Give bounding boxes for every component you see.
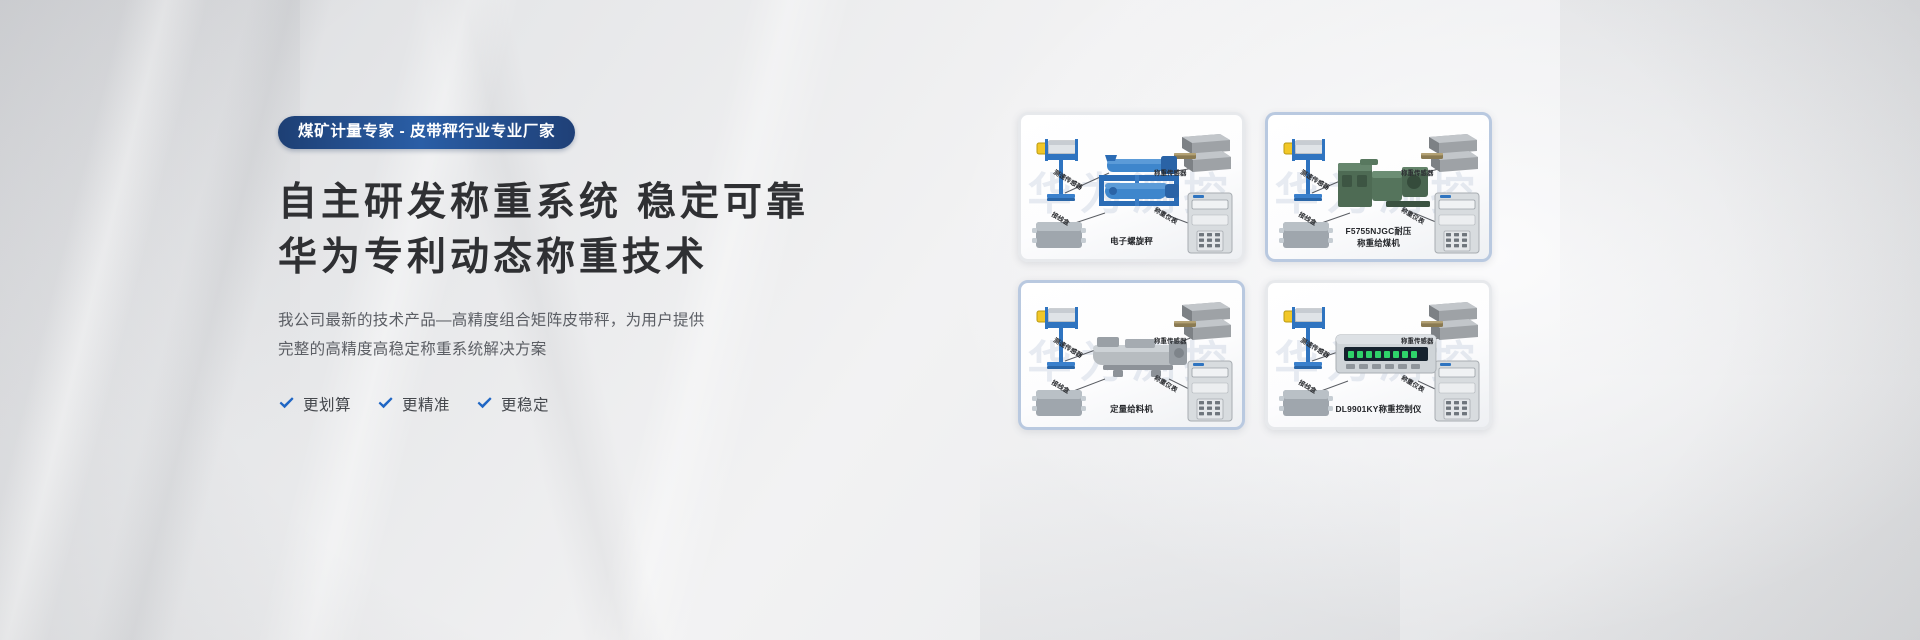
caption-line-0: DL9901KY称重控制仪 (1268, 404, 1489, 415)
feature-item-2: 更稳定 (476, 393, 549, 415)
machine-illustration (1330, 153, 1442, 219)
hero-banner: 煤矿计量专家 - 皮带秤行业专业厂家 自主研发称重系统 稳定可靠 华为专利动态称… (0, 0, 1920, 640)
label-load-sensor: 称重传感器 (1154, 336, 1186, 345)
page-title: 自主研发称重系统 稳定可靠 华为专利动态称重技术 (278, 175, 748, 286)
tagline-badge: 煤矿计量专家 - 皮带秤行业专业厂家 (278, 116, 575, 149)
card-caption: DL9901KY称重控制仪 (1268, 404, 1489, 415)
hero-copy: 煤矿计量专家 - 皮带秤行业专业厂家 自主研发称重系统 稳定可靠 华为专利动态称… (278, 116, 748, 415)
product-card-dl9901ky-controller[interactable]: 华为测控 (1265, 280, 1492, 430)
label-load-sensor: 称重传感器 (1154, 168, 1186, 177)
machine-illustration (1083, 153, 1195, 219)
feature-label-1: 更精准 (402, 393, 450, 415)
label-load-sensor: 称重传感器 (1401, 168, 1433, 177)
feature-item-0: 更划算 (278, 393, 351, 415)
card-caption: F5755NJGC耐压 称重给煤机 (1268, 226, 1489, 249)
card-caption: 电子螺旋秤 (1021, 236, 1242, 247)
feature-item-1: 更精准 (377, 393, 450, 415)
caption-line-0: 电子螺旋秤 (1021, 236, 1242, 247)
feature-label-0: 更划算 (303, 393, 351, 415)
check-icon (476, 395, 493, 412)
product-card-quantitative-feeder[interactable]: 华为测控 (1018, 280, 1245, 430)
card-caption: 定量给料机 (1021, 404, 1242, 415)
check-icon (278, 395, 295, 412)
feature-list: 更划算 更精准 更稳定 (278, 393, 748, 415)
product-card-f5755njgc-coal-feeder[interactable]: 华为测控 (1265, 112, 1492, 262)
machine-illustration (1083, 321, 1195, 387)
caption-line-0: 定量给料机 (1021, 404, 1242, 415)
caption-line-0: F5755NJGC耐压 (1268, 226, 1489, 237)
check-icon (377, 395, 394, 412)
product-card-grid: 华为测控 (1018, 112, 1578, 430)
headline-line-1: 自主研发称重系统 稳定可靠 (278, 175, 748, 230)
product-card-electronic-screw-scale[interactable]: 华为测控 (1018, 112, 1245, 262)
caption-line-1: 称重给煤机 (1268, 238, 1489, 249)
label-load-sensor: 称重传感器 (1401, 336, 1433, 345)
headline-line-2: 华为专利动态称重技术 (278, 230, 748, 285)
machine-illustration (1330, 321, 1442, 387)
feature-label-2: 更稳定 (501, 393, 549, 415)
description-text: 我公司最新的技术产品—高精度组合矩阵皮带秤，为用户提供完整的高精度高稳定称重系统… (278, 307, 718, 364)
